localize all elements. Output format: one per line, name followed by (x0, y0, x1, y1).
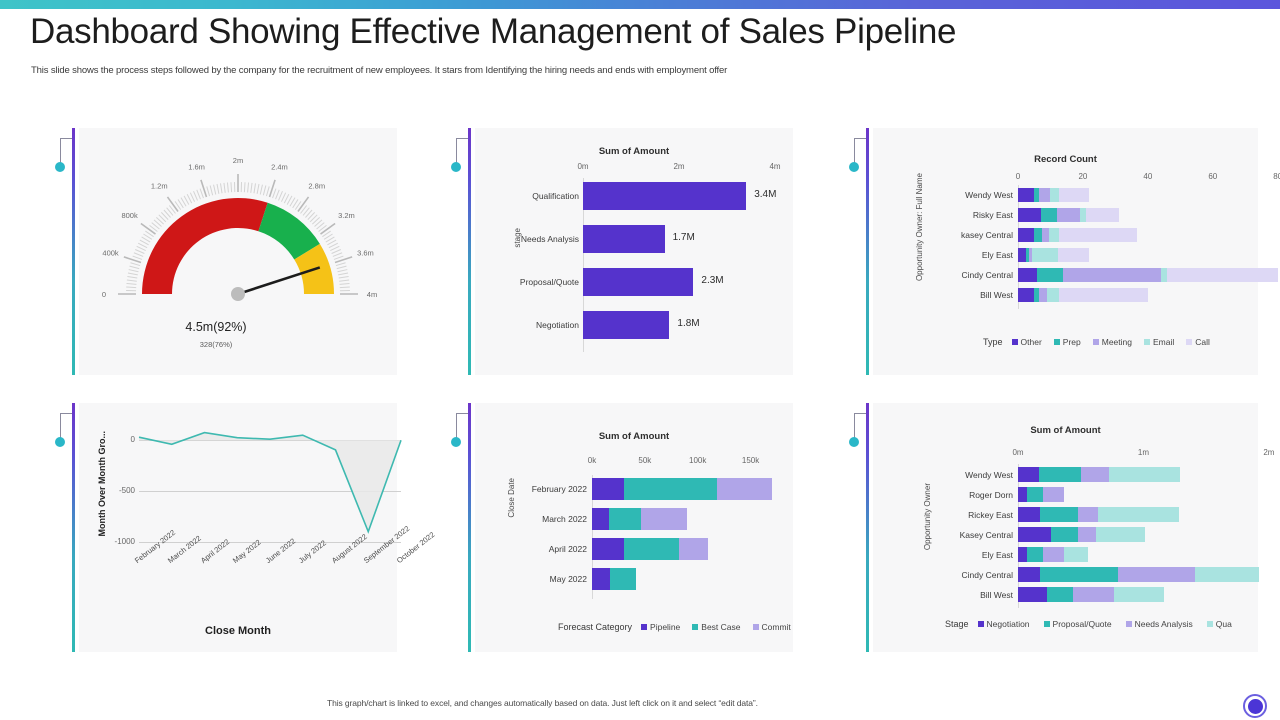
segment-proposal-quote[interactable] (1027, 547, 1043, 562)
segment-best-case[interactable] (624, 538, 679, 560)
segment-needs-analysis[interactable] (1043, 547, 1064, 562)
segment-qua[interactable] (1109, 467, 1180, 482)
category-label: Cindy Central (941, 570, 1013, 580)
legend-stage: StageNegotiationProposal/QuoteNeeds Anal… (945, 619, 1241, 629)
x-axis-tick: 0 (1004, 172, 1032, 181)
segment-other[interactable] (1018, 228, 1034, 242)
legend-item-negotiation[interactable]: Negotiation (978, 619, 1030, 629)
legend-swatch (753, 624, 759, 630)
segment-email[interactable] (1161, 268, 1167, 282)
legend-label: Qua (1216, 619, 1232, 629)
x-axis-tick: 40 (1134, 172, 1162, 181)
category-label: Roger Dorn (941, 490, 1013, 500)
gauge-tick (333, 253, 342, 257)
stacked-bar-row[interactable] (1018, 507, 1280, 522)
legend-item-proposal-quote[interactable]: Proposal/Quote (1044, 619, 1112, 629)
segment-prep[interactable] (1041, 208, 1057, 222)
stacked-bar-row[interactable] (592, 478, 777, 500)
bar-value-label: 1.7M (673, 232, 695, 243)
segment-proposal-quote[interactable] (1040, 507, 1078, 522)
gauge-tick (254, 183, 256, 193)
gauge-tick (279, 191, 283, 200)
gauge-tick (336, 263, 346, 266)
category-label: Negotiation (497, 320, 579, 330)
stacked-bar-chart-forecast: 0k50k100k150kFebruary 2022March 2022Apri… (475, 403, 793, 652)
gauge-tick (190, 193, 194, 202)
segment-negotiation[interactable] (1018, 547, 1027, 562)
gauge-tick (248, 182, 249, 192)
legend-title: Forecast Category (558, 622, 632, 632)
logo-inner-circle (1248, 699, 1263, 714)
legend-swatch (1093, 339, 1099, 345)
gauge-tick (128, 273, 138, 275)
stacked-bar-row[interactable] (1018, 487, 1280, 502)
gauge-band-red (142, 198, 268, 294)
segment-needs-analysis[interactable] (1073, 587, 1114, 602)
legend-label: Other (1021, 337, 1042, 347)
category-label: February 2022 (509, 484, 587, 494)
legend-label: Meeting (1102, 337, 1132, 347)
gauge-tick (257, 184, 259, 194)
stacked-bar-row[interactable] (592, 508, 777, 530)
category-label: Qualification (497, 191, 579, 201)
top-gradient-bar (0, 0, 1280, 9)
segment-pipeline[interactable] (592, 478, 624, 500)
gauge-tick (214, 185, 216, 195)
gauge-tick (266, 186, 269, 196)
x-axis-tick: 80 (1264, 172, 1280, 181)
category-label: April 2022 (509, 544, 587, 554)
legend-item-call[interactable]: Call (1186, 337, 1210, 347)
gauge-tick (339, 276, 349, 278)
gauge-tick (207, 186, 210, 196)
x-axis-tick: 1m (1129, 448, 1157, 457)
legend-label: Email (1153, 337, 1174, 347)
gauge-tick (224, 183, 225, 193)
panel-pipeline-by-rep: Sales Pipeline by Sales Rep Sum of Amoun… (818, 403, 1258, 652)
gauge-tick-label: 1.2m (151, 182, 168, 191)
gauge-tick (338, 270, 348, 272)
segment-best-case[interactable] (624, 478, 717, 500)
legend-type: TypeOtherPrepMeetingEmailCall (983, 337, 1217, 347)
x-axis-tick: 0m (573, 162, 593, 171)
x-axis-tick: 0k (578, 456, 606, 465)
legend-label: Negotiation (987, 619, 1030, 629)
gauge-tick (210, 186, 212, 196)
segment-proposal-quote[interactable] (1039, 467, 1080, 482)
panel-sales-activity: Sales Activity by Sales Rep Record Count… (818, 128, 1258, 375)
gauge-tick (130, 266, 140, 268)
gauge-tick-label: 1.6m (188, 163, 205, 172)
legend-swatch (641, 624, 647, 630)
segment-meeting[interactable] (1063, 268, 1160, 282)
x-axis-tick: 20 (1069, 172, 1097, 181)
segment-proposal-quote[interactable] (1040, 567, 1118, 582)
stacked-bar-row[interactable] (1018, 228, 1280, 242)
panel-body: Sum of Amount stage 0m2m4mQualification3… (475, 128, 793, 375)
bar-value-label: 3.4M (754, 189, 776, 200)
x-axis-tick: 150k (737, 456, 765, 465)
gauge-tick-label: 3.2m (338, 211, 355, 220)
segment-call[interactable] (1059, 188, 1090, 202)
category-label: Needs Analysis (497, 234, 579, 244)
category-label: Risky East (943, 210, 1013, 220)
bar-value-label: 1.8M (677, 318, 699, 329)
line-chart-mom-growth: 0-500-1000February 2022March 2022April 2… (79, 403, 397, 652)
segment-prep[interactable] (1034, 228, 1042, 242)
gauge-tick-label: 2.8m (308, 182, 325, 191)
bar-value-label: 2.3M (701, 275, 723, 286)
segment-call[interactable] (1059, 288, 1148, 302)
category-label: Ely East (941, 550, 1013, 560)
segment-prep[interactable] (1037, 268, 1063, 282)
gauge-tick (244, 182, 245, 192)
gauge-tick (197, 190, 201, 199)
category-label: Cindy Central (943, 270, 1013, 280)
segment-qua[interactable] (1114, 587, 1164, 602)
legend-label: Needs Analysis (1135, 619, 1193, 629)
legend-title: Type (983, 337, 1003, 347)
panel-body: Month Over Month Gro... 0-500-1000Februa… (79, 403, 397, 652)
stacked-bar-row[interactable] (1018, 248, 1280, 262)
legend-swatch (1207, 621, 1213, 627)
gauge-tick (281, 193, 285, 202)
stacked-bar-row[interactable] (1018, 188, 1280, 202)
segment-proposal-quote[interactable] (1027, 487, 1043, 502)
segment-email[interactable] (1032, 248, 1058, 262)
stacked-bar-row[interactable] (1018, 467, 1280, 482)
x-axis-tick: 2m (1255, 448, 1280, 457)
x-axis-tick: 50k (631, 456, 659, 465)
gauge-tick-label: 2m (233, 156, 243, 165)
segment-negotiation[interactable] (1018, 587, 1047, 602)
segment-meeting[interactable] (1057, 208, 1080, 222)
gauge-tick (126, 287, 136, 288)
segment-negotiation[interactable] (1018, 527, 1051, 542)
segment-meeting[interactable] (1039, 288, 1047, 302)
category-label: Wendy West (943, 190, 1013, 200)
segment-pipeline[interactable] (592, 508, 609, 530)
gauge-tick-label: 2.4m (271, 163, 288, 172)
legend-swatch (1012, 339, 1018, 345)
segment-qua[interactable] (1098, 507, 1179, 522)
gauge-tick (251, 183, 252, 193)
stacked-bar-row[interactable] (1018, 268, 1280, 282)
segment-qua[interactable] (1064, 547, 1088, 562)
segment-proposal-quote[interactable] (1051, 527, 1078, 542)
stacked-bar-row[interactable] (1018, 567, 1280, 582)
gauge-tick (133, 256, 142, 259)
segment-meeting[interactable] (1042, 228, 1048, 242)
stacked-bar-chart-pipeline-by-rep: 0m1m2mWendy WestRoger DornRickey EastKas… (873, 403, 1258, 652)
gauge-hub (231, 287, 245, 301)
stacked-bar-row[interactable] (1018, 288, 1280, 302)
legend-label: Best Case (701, 622, 740, 632)
gauge-tick (135, 250, 144, 254)
page-subtitle: This slide shows the process steps follo… (31, 65, 1131, 76)
gauge-tick (194, 191, 198, 200)
gauge-tick (273, 189, 276, 198)
x-axis-tick: 2m (669, 162, 689, 171)
panel-body: Sum of Amount Opportunity Owner 0m1m2mWe… (873, 403, 1258, 652)
legend-item-other[interactable]: Other (1012, 337, 1042, 347)
gauge-tick (338, 273, 348, 275)
gauge-value-label: 4.5m(92%) (57, 320, 375, 334)
stacked-bar-row[interactable] (1018, 587, 1280, 602)
segment-call[interactable] (1167, 268, 1277, 282)
legend-swatch (692, 624, 698, 630)
bar-qualification[interactable] (583, 182, 746, 210)
bar-needs-analysis[interactable] (583, 225, 665, 253)
category-label: March 2022 (509, 514, 587, 524)
segment-best-case[interactable] (610, 568, 636, 590)
stacked-bar-row[interactable] (1018, 547, 1280, 562)
legend-swatch (1186, 339, 1192, 345)
category-label: Bill West (943, 290, 1013, 300)
segment-commit[interactable] (717, 478, 772, 500)
category-label: Wendy West (941, 470, 1013, 480)
legend-swatch (978, 621, 984, 627)
stacked-bar-row[interactable] (592, 568, 777, 590)
x-axis-tick: 100k (684, 456, 712, 465)
gauge-chart: 0400k800k1.2m1.6m2m2.4m2.8m3.2m3.6m4m (79, 148, 397, 323)
gauge-tick-label: 3.6m (357, 249, 374, 258)
gauge-tick-label: 0 (102, 290, 106, 299)
gauge-tick (129, 270, 139, 272)
axis-label-close-month: Close Month (79, 625, 397, 637)
gauge-tick (330, 246, 339, 250)
segment-negotiation[interactable] (1018, 467, 1039, 482)
segment-commit[interactable] (679, 538, 709, 560)
segment-needs-analysis[interactable] (1081, 467, 1109, 482)
bar-chart-sales-pipeline: 0m2m4mQualification3.4MNeeds Analysis1.7… (475, 128, 793, 375)
gauge-tick (127, 280, 137, 281)
legend-item-qua[interactable]: Qua (1207, 619, 1232, 629)
gauge-tick (231, 182, 232, 192)
segment-negotiation[interactable] (1018, 487, 1027, 502)
panel-forecast-by-month: Forecast by Month Sum of Amount Close Da… (420, 403, 793, 652)
panel-body: Record Count Opportunity Owner: Full Nam… (873, 128, 1258, 375)
segment-email[interactable] (1080, 208, 1086, 222)
segment-email[interactable] (1047, 288, 1058, 302)
logo (1243, 694, 1267, 718)
segment-other[interactable] (1018, 188, 1034, 202)
legend-label: Call (1195, 337, 1210, 347)
legend-label: Prep (1063, 337, 1081, 347)
panel-closed-business: Closed Business 0400k800k1.2m1.6m2m2.4m2… (24, 128, 397, 375)
gauge-sub-label: 328(76%) (57, 340, 375, 349)
x-axis-tick: 60 (1199, 172, 1227, 181)
legend-item-pipeline[interactable]: Pipeline (641, 622, 680, 632)
legend-title: Stage (945, 619, 969, 629)
segment-negotiation[interactable] (1018, 507, 1040, 522)
bar-negotiation[interactable] (583, 311, 669, 339)
gauge-tick (276, 190, 280, 199)
segment-needs-analysis[interactable] (1078, 507, 1098, 522)
legend-item-prep[interactable]: Prep (1054, 337, 1081, 347)
gauge-tick-label: 4m (367, 290, 377, 299)
legend-item-meeting[interactable]: Meeting (1093, 337, 1132, 347)
legend-swatch (1044, 621, 1050, 627)
legend-label: Pipeline (650, 622, 680, 632)
legend-label: Proposal/Quote (1053, 619, 1112, 629)
gauge-tick (334, 256, 343, 259)
gauge-tick (217, 184, 219, 194)
segment-proposal-quote[interactable] (1047, 587, 1072, 602)
segment-pipeline[interactable] (592, 568, 610, 590)
legend-item-needs-analysis[interactable]: Needs Analysis (1126, 619, 1193, 629)
gauge-tick (340, 287, 350, 288)
segment-best-case[interactable] (609, 508, 641, 530)
gauge-tick (134, 253, 143, 257)
category-label: Ely East (943, 250, 1013, 260)
gauge-tick (200, 189, 203, 198)
legend-forecast-category: Forecast CategoryPipelineBest CaseCommit (558, 622, 798, 632)
segment-call[interactable] (1086, 208, 1118, 222)
segment-other[interactable] (1018, 248, 1026, 262)
segment-qua[interactable] (1195, 567, 1259, 582)
category-label: Rickey East (941, 510, 1013, 520)
segment-other[interactable] (1018, 288, 1034, 302)
gauge-tick (340, 283, 350, 284)
stacked-bar-row[interactable] (1018, 208, 1280, 222)
gauge-tick (227, 182, 228, 192)
segment-email[interactable] (1050, 188, 1058, 202)
gauge-tick (127, 276, 137, 278)
gauge-svg: 0400k800k1.2m1.6m2m2.4m2.8m3.2m3.6m4m (79, 148, 397, 323)
footer-note: This graph/chart is linked to excel, and… (327, 698, 758, 708)
category-label: kasey Central (943, 230, 1013, 240)
category-label: Kasey Central (941, 530, 1013, 540)
segment-pipeline[interactable] (592, 538, 624, 560)
gauge-tick-label: 800k (121, 211, 138, 220)
gauge-tick (260, 185, 262, 195)
segment-needs-analysis[interactable] (1043, 487, 1064, 502)
gauge-tick (332, 250, 341, 254)
segment-commit[interactable] (641, 508, 688, 530)
segment-call[interactable] (1058, 248, 1089, 262)
stacked-bar-row[interactable] (1018, 527, 1280, 542)
segment-call[interactable] (1059, 228, 1137, 242)
legend-swatch (1126, 621, 1132, 627)
segment-email[interactable] (1049, 228, 1059, 242)
panel-body: Sum of Amount Close Date 0k50k100k150kFe… (475, 403, 793, 652)
legend-swatch (1054, 339, 1060, 345)
legend-swatch (1144, 339, 1150, 345)
stacked-bar-row[interactable] (592, 538, 777, 560)
gauge-tick (220, 183, 222, 193)
gauge-tick (126, 283, 136, 284)
category-label: May 2022 (509, 574, 587, 584)
segment-meeting[interactable] (1039, 188, 1050, 202)
category-label: Proposal/Quote (497, 277, 579, 287)
gauge-tick (339, 280, 349, 281)
segment-qua[interactable] (1096, 527, 1144, 542)
page-title: Dashboard Showing Effective Management o… (30, 12, 956, 52)
segment-other[interactable] (1018, 268, 1037, 282)
gauge-tick (137, 246, 146, 250)
gauge-tick-label: 400k (102, 249, 119, 258)
segment-needs-analysis[interactable] (1118, 567, 1195, 582)
panel-sales-pipeline: Sales Pipeline Sum of Amount stage 0m2m4… (420, 128, 793, 375)
panel-mom-growth: Month Over Month Growth Month Over Month… (24, 403, 397, 652)
bar-proposal-quote[interactable] (583, 268, 693, 296)
segment-negotiation[interactable] (1018, 567, 1040, 582)
category-label: Bill West (941, 590, 1013, 600)
panel-body: 0400k800k1.2m1.6m2m2.4m2.8m3.2m3.6m4m 4.… (79, 128, 397, 375)
legend-item-email[interactable]: Email (1144, 337, 1174, 347)
gauge-tick (130, 263, 140, 266)
gauge-tick (337, 266, 347, 268)
legend-item-best-case[interactable]: Best Case (692, 622, 740, 632)
segment-needs-analysis[interactable] (1078, 527, 1097, 542)
x-axis-tick: 0m (1004, 448, 1032, 457)
gauge-tick (263, 186, 265, 196)
segment-other[interactable] (1018, 208, 1041, 222)
